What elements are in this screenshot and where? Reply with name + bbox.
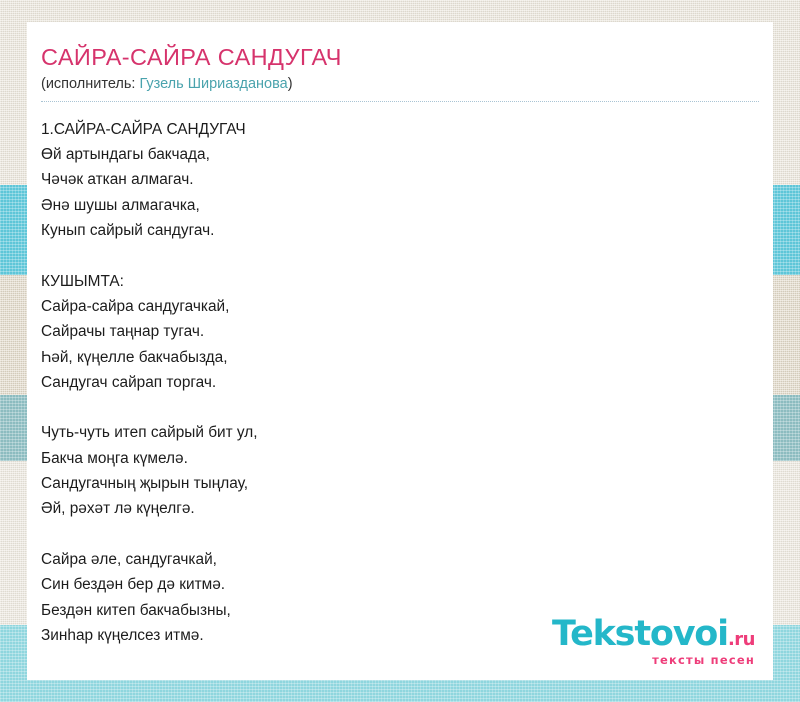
lyrics-body: 1.САЙРА-САЙРА САНДУГАЧӨй артындагы бакча… [41, 117, 759, 648]
lyric-blank-line [41, 243, 759, 268]
lyric-blank-line [41, 522, 759, 547]
lyric-line: Бакча моңга күмелә. [41, 446, 759, 471]
lyric-line: Һәй, күңелле бакчабызда, [41, 345, 759, 370]
lyric-line: Өй артындагы бакчада, [41, 142, 759, 167]
logo-tld: .ru [728, 631, 755, 649]
lyric-line: Син бездән бер дә китмә. [41, 572, 759, 597]
lyric-line: Сайра әле, сандугачкай, [41, 547, 759, 572]
lyric-line: КУШЫМТА: [41, 269, 759, 294]
lyric-line: Сайрачы таңнар тугач. [41, 319, 759, 344]
site-logo[interactable]: Tekstovoi.ru тексты песен [552, 617, 755, 667]
lyric-line: Әнә шушы алмагачка, [41, 193, 759, 218]
performer-suffix: ) [288, 76, 293, 92]
lyric-line: Әй, рәхәт лә күңелгә. [41, 496, 759, 521]
performer-link[interactable]: Гузель Шириазданова [139, 76, 287, 92]
performer-line: (исполнитель: Гузель Шириазданова) [41, 75, 759, 102]
logo-wordmark: Tekstovoi [552, 617, 728, 652]
lyric-line: Чуть-чуть итеп сайрый бит ул, [41, 420, 759, 445]
lyric-line: Сандугач сайрап торгач. [41, 370, 759, 395]
logo-tagline: тексты песен [552, 655, 755, 667]
lyric-line: 1.САЙРА-САЙРА САНДУГАЧ [41, 117, 759, 142]
lyric-blank-line [41, 395, 759, 420]
lyric-line: Сайра-сайра сандугачкай, [41, 294, 759, 319]
page-title: САЙРА-САЙРА САНДУГАЧ [41, 44, 759, 71]
lyric-line: Сандугачның җырын тыңлау, [41, 471, 759, 496]
page-root: САЙРА-САЙРА САНДУГАЧ (исполнитель: Гузел… [0, 0, 800, 702]
lyric-line: Кунып сайрый сандугач. [41, 218, 759, 243]
performer-label: (исполнитель: [41, 76, 135, 92]
lyrics-card: САЙРА-САЙРА САНДУГАЧ (исполнитель: Гузел… [27, 22, 773, 680]
lyric-line: Чәчәк аткан алмагач. [41, 167, 759, 192]
